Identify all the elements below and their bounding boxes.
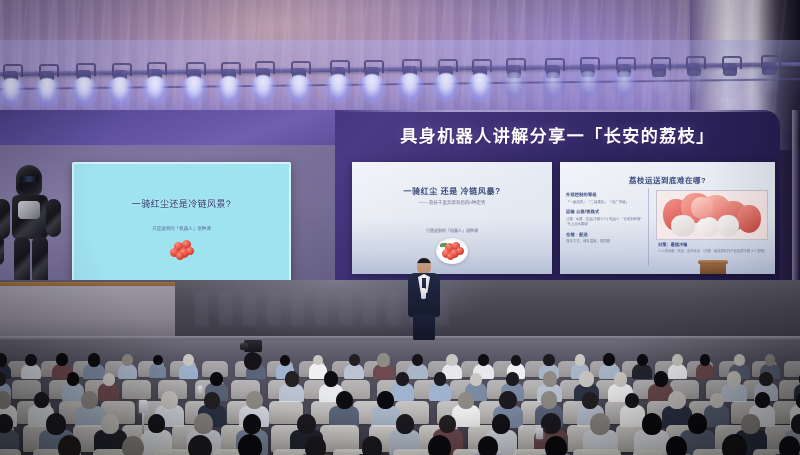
audience-member-head: [541, 413, 560, 434]
handheld-microphone: [421, 288, 426, 299]
photo-caption-body: 人人带冰箱 · 精加 · 百司冰店 （冷配 · 最品质时代产品品质冷藏 4℃ 配…: [658, 249, 766, 254]
robot-left-arm: [0, 199, 10, 239]
audience-member-head: [161, 391, 177, 409]
screenshot-root: 一骑红尘还是冷链风景? 只是送到的「机器人」语种课: [0, 0, 800, 455]
audience-member-head: [446, 354, 458, 367]
audience-member-head: [88, 353, 100, 366]
audience-member-head: [543, 371, 557, 387]
photo-caption-heading: 对策：最强冷箱: [658, 242, 687, 248]
audience-member-head: [543, 354, 554, 366]
audience-member-head: [34, 392, 49, 408]
audience-member-head: [58, 435, 81, 455]
audience-member-head: [590, 413, 610, 435]
slide-left-subtitle: —— 荔枝千里奔袭背后的n种定势: [352, 200, 552, 206]
audience-member-head: [741, 414, 760, 434]
audience-member-head: [188, 435, 212, 455]
auditorium-seat: [573, 449, 621, 455]
audience-member-head: [642, 413, 662, 435]
audience-phone: [536, 428, 542, 439]
audience-member-head: [204, 392, 220, 409]
spotlight: [146, 62, 164, 96]
audience-member-head: [0, 353, 7, 366]
audience-member-head: [796, 392, 800, 409]
bullet-heading: 外观控制的等级: [566, 192, 644, 198]
audience-member-head: [759, 372, 773, 387]
audience-member-head: [575, 354, 586, 366]
audience-member-head: [101, 414, 120, 434]
spotlight: [437, 59, 455, 93]
spotlight: [401, 59, 419, 93]
stage-left-counter: [0, 286, 175, 340]
wooden-crate-image: [700, 262, 726, 274]
spotlight: [254, 61, 272, 95]
audience-member-head: [672, 354, 683, 366]
spotlight: [544, 58, 562, 92]
audience-member: [177, 435, 222, 455]
audience-member-head: [122, 436, 144, 455]
audience-member-head: [654, 371, 668, 386]
slide-right: 荔枝运送到底难在哪? 外观控制的等级 「一级品质」 「二级果实」 「出厂甲级」 …: [560, 162, 775, 274]
spotlight: [579, 57, 597, 91]
lychee-cluster-icon: [168, 238, 196, 260]
spotlight: [38, 64, 56, 98]
audience-member-head: [478, 436, 498, 455]
audience-member-head: [412, 354, 424, 366]
audience-member: [351, 436, 390, 455]
slide-left: 一骑红尘 还是 冷链风暴? —— 荔枝千里奔袭背后的n种定势 只是送到的「机器人…: [352, 162, 552, 274]
spotlight: [111, 63, 129, 97]
audience-member-head: [779, 436, 800, 455]
audience-member-head: [506, 372, 519, 386]
audience-member-head: [396, 414, 414, 434]
spotlight: [721, 56, 739, 90]
audience-seating: [0, 340, 800, 455]
tripod-phone: [139, 400, 147, 413]
robot-head: [16, 165, 42, 197]
spotlight: [505, 58, 523, 92]
audience-member-head: [722, 434, 747, 455]
bullet-body: 「一级品质」 「二级果实」 「出厂甲级」: [566, 200, 644, 205]
audience-member-head: [362, 436, 383, 455]
audience-member-head: [194, 413, 213, 434]
audience-member-head: [183, 354, 194, 366]
audience-member-head: [791, 414, 800, 433]
bullet-body: 保存方式、储存温度、保质期: [566, 239, 644, 244]
operator-head: [244, 352, 261, 370]
audience-member-head: [25, 354, 36, 366]
speaker-on-stage: [404, 258, 444, 340]
audience-member-head: [349, 354, 360, 366]
audience-member: [710, 434, 757, 455]
audience-member-head: [336, 391, 353, 409]
spotlight: [329, 60, 347, 94]
video-tv-subtitle: 只是送到的「机器人」语种课: [74, 226, 289, 232]
robot-chest-plate: [18, 201, 40, 219]
audience-member-head: [153, 355, 163, 366]
audience-member-head: [396, 372, 409, 386]
audience-member-head: [637, 354, 648, 366]
audience-member: [46, 435, 90, 455]
audience-member-head: [727, 371, 742, 387]
audience-member-head: [470, 373, 482, 386]
spotlight: [290, 61, 308, 95]
phone-tripod: [138, 400, 148, 434]
spotlight: [185, 62, 203, 96]
audience-member-head: [280, 355, 290, 366]
audience-member-head: [434, 372, 446, 385]
tripod-leg: [142, 413, 144, 434]
robot-left-forearm: [0, 235, 4, 265]
audience-member: [655, 436, 696, 455]
spotlight: [650, 57, 668, 91]
audience-member-head: [0, 414, 13, 433]
audience-member: [111, 436, 153, 455]
camera-operator: [238, 340, 268, 382]
audience-member-head: [688, 413, 708, 434]
video-tv-display: 一骑红尘还是冷链风景? 只是送到的「机器人」语种课: [72, 162, 291, 284]
audience-member-head: [458, 392, 474, 409]
audience-member-head: [122, 354, 133, 366]
spotlight: [2, 64, 20, 98]
spotlight: [685, 56, 703, 90]
robot-right-leg: [32, 237, 48, 285]
audience-member-head: [103, 373, 115, 386]
robot-right-arm: [46, 199, 61, 237]
audience-member-head: [700, 354, 711, 365]
audience-member-head: [614, 372, 628, 387]
audience-member-head: [710, 393, 724, 408]
audience-member-head: [285, 371, 299, 386]
audience-member-head: [492, 414, 511, 434]
audience-phone: [198, 386, 202, 394]
lighting-truss: [0, 58, 800, 110]
slide-left-title: 一骑红尘 还是 冷链风暴?: [352, 186, 552, 197]
led-screen-top-edge: [335, 110, 780, 112]
audience-member-head: [666, 436, 687, 455]
audience-row: [0, 436, 800, 455]
audience-member-head: [582, 392, 598, 409]
speaker-head: [417, 258, 431, 274]
session-headline: 具身机器人讲解分享一「长安的荔枝」: [335, 122, 780, 147]
audience-member: [768, 436, 800, 455]
spotlight: [220, 62, 238, 96]
spotlight: [760, 55, 778, 89]
slide-column-divider: [648, 188, 649, 266]
audience-member-head: [81, 391, 98, 409]
auditorium-seat: [0, 449, 21, 455]
audience-member-head: [377, 353, 389, 366]
video-tv-title: 一骑红尘还是冷链风景?: [74, 197, 289, 210]
spotlight: [615, 57, 633, 91]
audience-member-head: [0, 391, 11, 408]
audience-member-head: [238, 434, 262, 455]
robot-visor: [20, 176, 38, 182]
bullet-body: 公路 · 水路 · 空运(冷链介介) 陆运人 · "长安到岭南" · "马上点水…: [566, 217, 644, 227]
audience-member-head: [625, 393, 639, 408]
audience-member-head: [297, 414, 316, 434]
audience-member-head: [545, 436, 567, 455]
slide-left-note: 只是送到的「机器人」语种课: [352, 228, 552, 234]
speaker-trousers: [413, 315, 435, 340]
audience-member: [468, 436, 507, 455]
audience-member-head: [305, 436, 326, 455]
peeled-lychee-photo: [656, 190, 768, 240]
robot-left-leg: [14, 237, 30, 285]
spotlight: [363, 60, 381, 94]
audience-member-head: [324, 371, 338, 386]
audience-member-head: [511, 355, 521, 366]
audience-member-head: [377, 391, 394, 409]
audience-member-head: [499, 391, 516, 410]
video-camera-lens: [240, 343, 248, 350]
audience-member-head: [313, 355, 323, 366]
audience-member: [417, 435, 460, 455]
audience-member-head: [246, 391, 263, 409]
audience-member-head: [67, 372, 79, 385]
spotlight: [75, 63, 93, 97]
bullet-heading: 运输 公路/铁路式: [566, 209, 644, 215]
audience-member-head: [439, 415, 456, 433]
audience-member-head: [478, 354, 490, 366]
audience-member-head: [765, 354, 776, 366]
audience-member-head: [243, 414, 262, 434]
audience-member-head: [428, 435, 451, 455]
slide-right-title: 荔枝运送到底难在哪?: [560, 175, 775, 186]
audience-member: [295, 436, 335, 455]
audience-member-head: [541, 391, 557, 409]
bullet-heading: 仓储 · 配送: [566, 232, 644, 238]
audience-member-head: [46, 413, 66, 435]
audience-member-head: [148, 414, 166, 433]
audience-member-head: [755, 392, 770, 408]
spotlight: [471, 59, 489, 93]
audience-member: [226, 434, 271, 455]
audience-member-head: [579, 371, 593, 387]
audience-member-head: [668, 391, 685, 410]
slide-right-bullet-column: 外观控制的等级 「一级品质」 「二级果实」 「出厂甲级」 运输 公路/铁路式 公…: [566, 192, 644, 249]
audience-member: [534, 436, 575, 455]
